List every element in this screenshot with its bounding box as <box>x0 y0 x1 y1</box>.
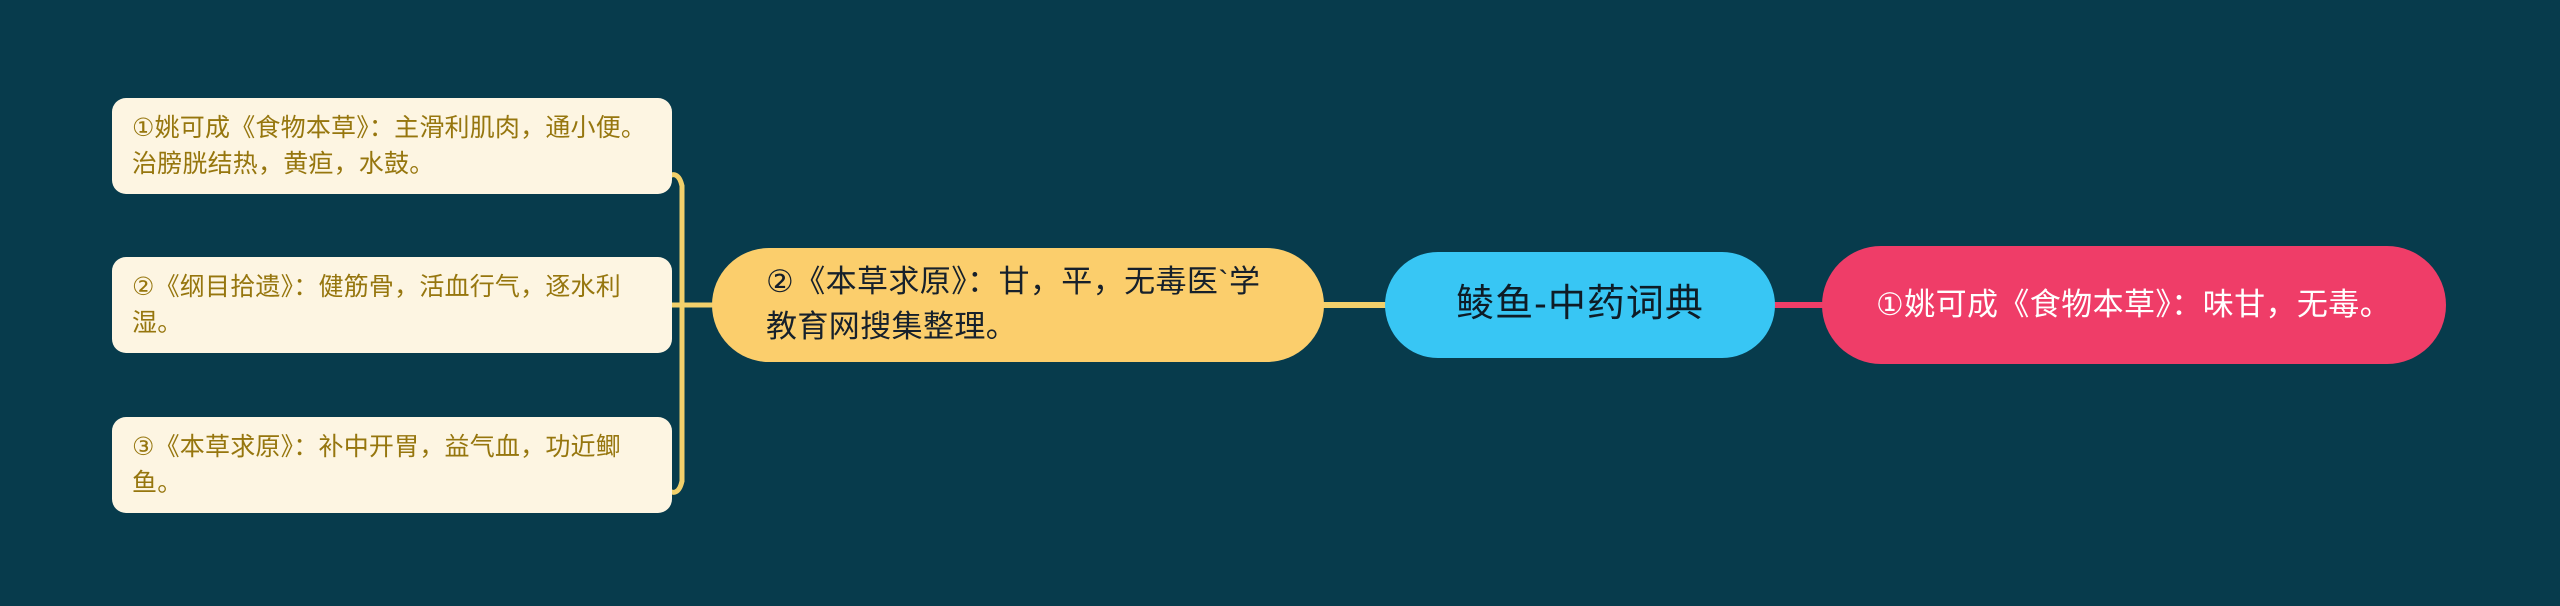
connector-leaf-3 <box>672 305 682 492</box>
branch-node-left[interactable]: ②《本草求原》：甘，平，无毒医`学教育网搜集整理。 <box>712 248 1324 362</box>
leaf-card-1-label: ①姚可成《食物本草》：主滑利肌肉，通小便。治膀胱结热，黄疸，水鼓。 <box>132 110 654 183</box>
root-node-label: 鲮鱼-中药词典 <box>1456 277 1704 332</box>
leaf-card-1[interactable]: ①姚可成《食物本草》：主滑利肌肉，通小便。治膀胱结热，黄疸，水鼓。 <box>112 98 672 194</box>
mindmap-canvas: ①姚可成《食物本草》：主滑利肌肉，通小便。治膀胱结热，黄疸，水鼓。 ②《纲目拾遗… <box>0 0 2560 606</box>
branch-node-left-label: ②《本草求原》：甘，平，无毒医`学教育网搜集整理。 <box>766 260 1276 350</box>
leaf-card-3[interactable]: ③《本草求原》：补中开胃，益气血，功近鲫鱼。 <box>112 417 672 513</box>
root-node[interactable]: 鲮鱼-中药词典 <box>1385 252 1775 358</box>
connector-leaf-1 <box>672 175 682 305</box>
branch-node-right[interactable]: ①姚可成《食物本草》：味甘，无毒。 <box>1822 246 2446 364</box>
leaf-card-2[interactable]: ②《纲目拾遗》：健筋骨，活血行气，逐水利湿。 <box>112 257 672 353</box>
leaf-card-2-label: ②《纲目拾遗》：健筋骨，活血行气，逐水利湿。 <box>132 269 654 342</box>
branch-node-right-label: ①姚可成《食物本草》：味甘，无毒。 <box>1876 283 2391 328</box>
leaf-card-3-label: ③《本草求原》：补中开胃，益气血，功近鲫鱼。 <box>132 429 654 502</box>
